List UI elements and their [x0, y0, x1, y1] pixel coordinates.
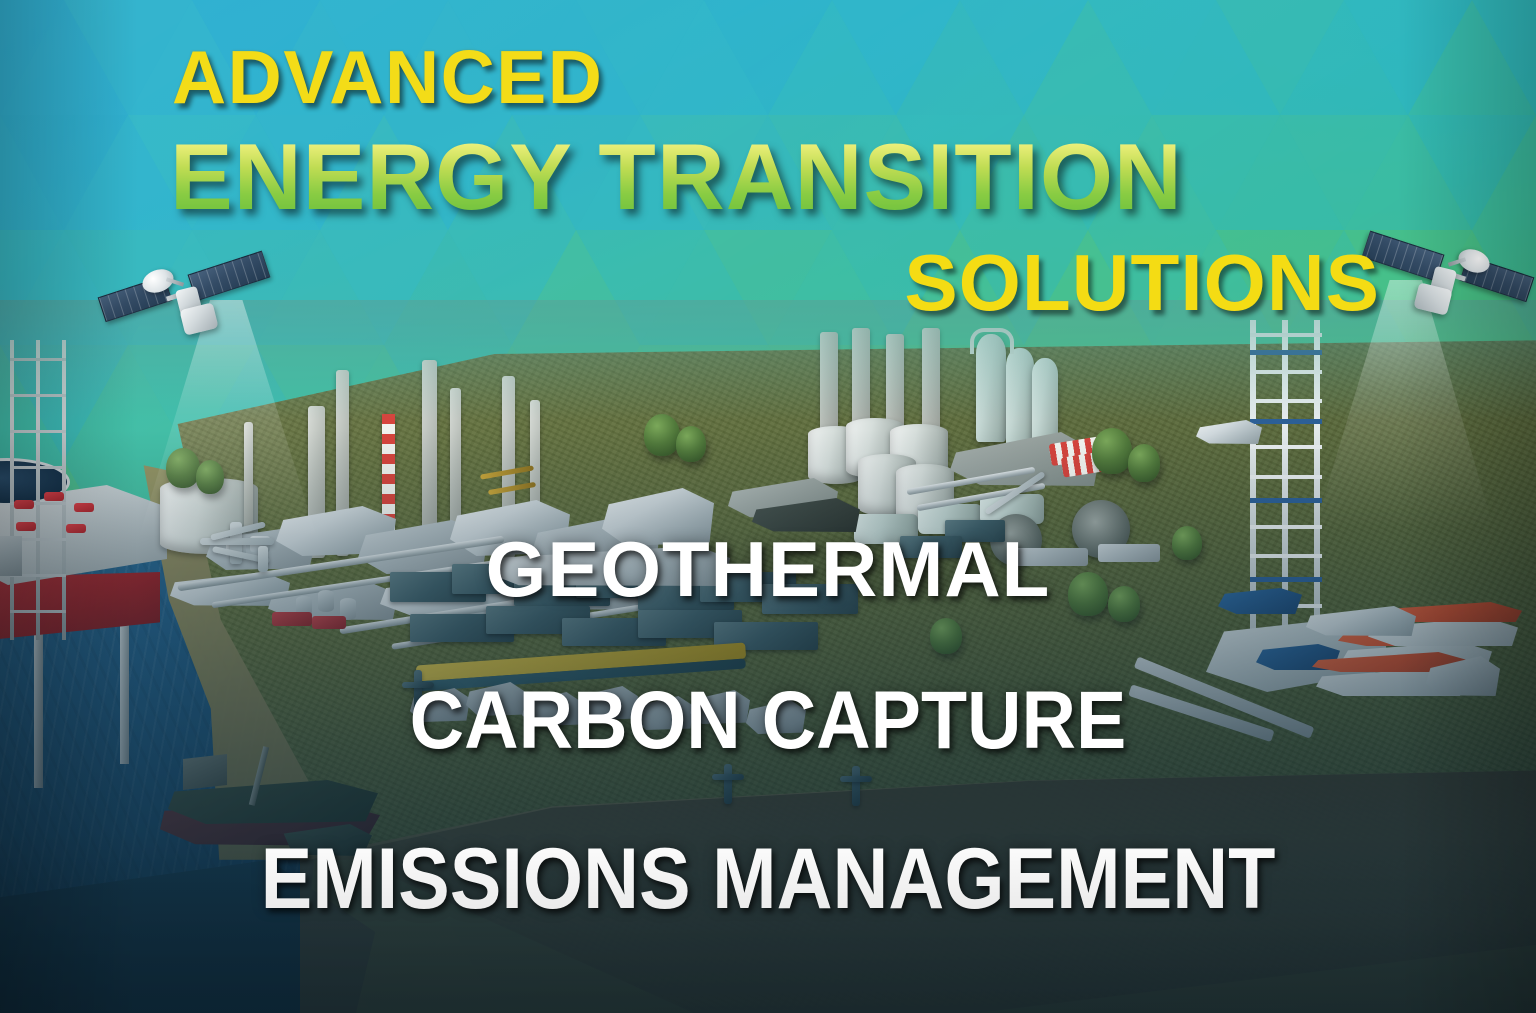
tree	[1068, 572, 1108, 616]
wellhead	[720, 764, 736, 810]
monkeyboard	[1196, 420, 1262, 444]
satellite-left	[112, 248, 262, 358]
supply-vessel	[160, 750, 410, 880]
rig-derrick	[10, 340, 66, 640]
energy-transition-banner: ADVANCED ENERGY TRANSITION SOLUTIONS GEO…	[0, 0, 1536, 1013]
tree	[644, 414, 680, 456]
pressure-vessel	[1006, 348, 1034, 446]
wellhead	[848, 766, 864, 812]
tree	[1172, 526, 1202, 560]
tree	[1108, 586, 1140, 622]
frac-pump-fleet	[390, 550, 950, 740]
tree	[930, 618, 962, 654]
coiled-tubing-reels	[980, 490, 1170, 580]
satellite-right	[1370, 228, 1520, 338]
tree	[1128, 444, 1160, 482]
tree	[1092, 428, 1132, 474]
service-truck	[900, 536, 962, 558]
solar-panel	[188, 251, 271, 302]
wellhead	[410, 670, 426, 716]
tree	[676, 426, 706, 462]
solar-panel	[1362, 231, 1445, 282]
